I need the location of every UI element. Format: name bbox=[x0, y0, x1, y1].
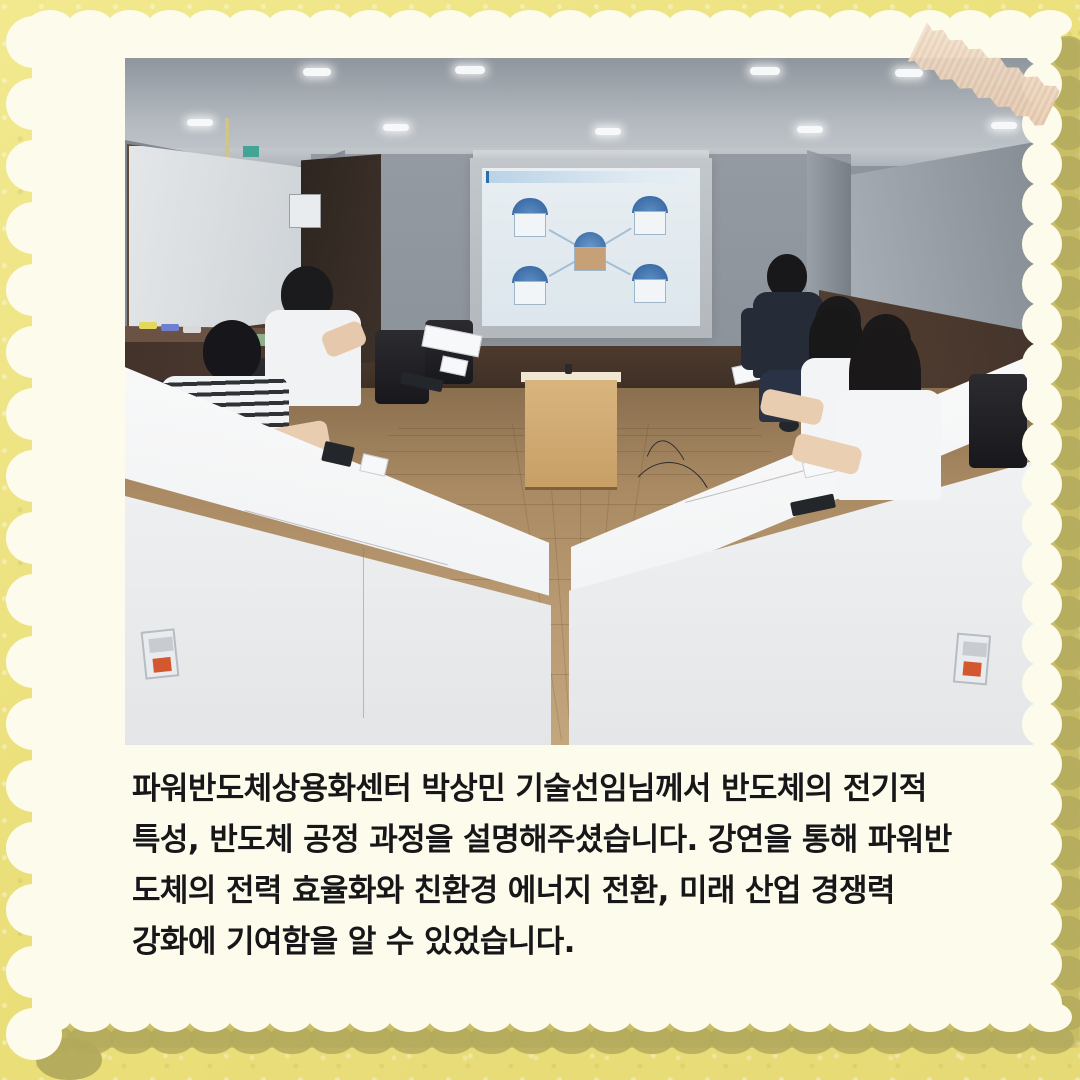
slide-node bbox=[570, 232, 610, 272]
slide-node bbox=[630, 196, 670, 236]
podium-mic bbox=[565, 364, 572, 374]
ceiling-light bbox=[383, 124, 409, 131]
caption-line-4: 강화에 기여함을 알 수 있었습니다. bbox=[132, 927, 1012, 958]
slide-node bbox=[630, 264, 670, 304]
ceiling-light bbox=[895, 69, 923, 77]
marker-white bbox=[183, 326, 201, 333]
ceiling-light bbox=[797, 126, 823, 133]
ceiling-light bbox=[595, 128, 621, 135]
podium bbox=[525, 380, 617, 490]
chair-left-3 bbox=[375, 330, 429, 404]
caption-line-3: 도체의 전력 효율화와 친환경 에너지 전환, 미래 산업 경쟁력 bbox=[132, 876, 1012, 907]
marker-blue bbox=[161, 324, 179, 331]
ceiling-light bbox=[303, 68, 331, 76]
slide-node-body bbox=[514, 281, 546, 305]
marker-yellow bbox=[139, 322, 157, 329]
caption-line-2: 특성, 반도체 공정 과정을 설명해주셨습니다. 강연을 통해 파워반 bbox=[132, 825, 1012, 856]
ceiling-light bbox=[455, 66, 485, 74]
seminar-photo bbox=[125, 58, 1035, 745]
door-notice-sign bbox=[289, 194, 321, 228]
projection-screen bbox=[470, 158, 712, 338]
caption-text: 파워반도체상용화센터 박상민 기술선임님께서 반도체의 전기적 특성, 반도체 … bbox=[132, 774, 1012, 958]
caption-line-1: 파워반도체상용화센터 박상민 기술선임님께서 반도체의 전기적 bbox=[132, 774, 1012, 805]
slide-title-bar bbox=[486, 171, 696, 183]
slide-node-body bbox=[574, 247, 606, 271]
slide bbox=[482, 168, 700, 326]
table-left-seam-2 bbox=[363, 548, 364, 718]
floor-sign-left bbox=[141, 628, 180, 679]
exit-sign-icon bbox=[243, 146, 259, 157]
floor-sign-right bbox=[953, 633, 991, 686]
ceiling-light bbox=[750, 67, 780, 75]
slide-node-body bbox=[514, 213, 546, 237]
ceiling-light bbox=[991, 122, 1017, 129]
slide-node bbox=[510, 198, 550, 238]
ceiling-light bbox=[187, 119, 213, 126]
slide-node-body bbox=[634, 211, 666, 235]
slide-node bbox=[510, 266, 550, 306]
slide-node-body bbox=[634, 279, 666, 303]
photo-scene bbox=[125, 58, 1035, 745]
chair-right-1 bbox=[969, 374, 1027, 468]
poster-canvas: 파워반도체상용화센터 박상민 기술선임님께서 반도체의 전기적 특성, 반도체 … bbox=[0, 0, 1080, 1080]
photo-card: 파워반도체상용화센터 박상민 기술선임님께서 반도체의 전기적 특성, 반도체 … bbox=[32, 22, 1046, 1022]
